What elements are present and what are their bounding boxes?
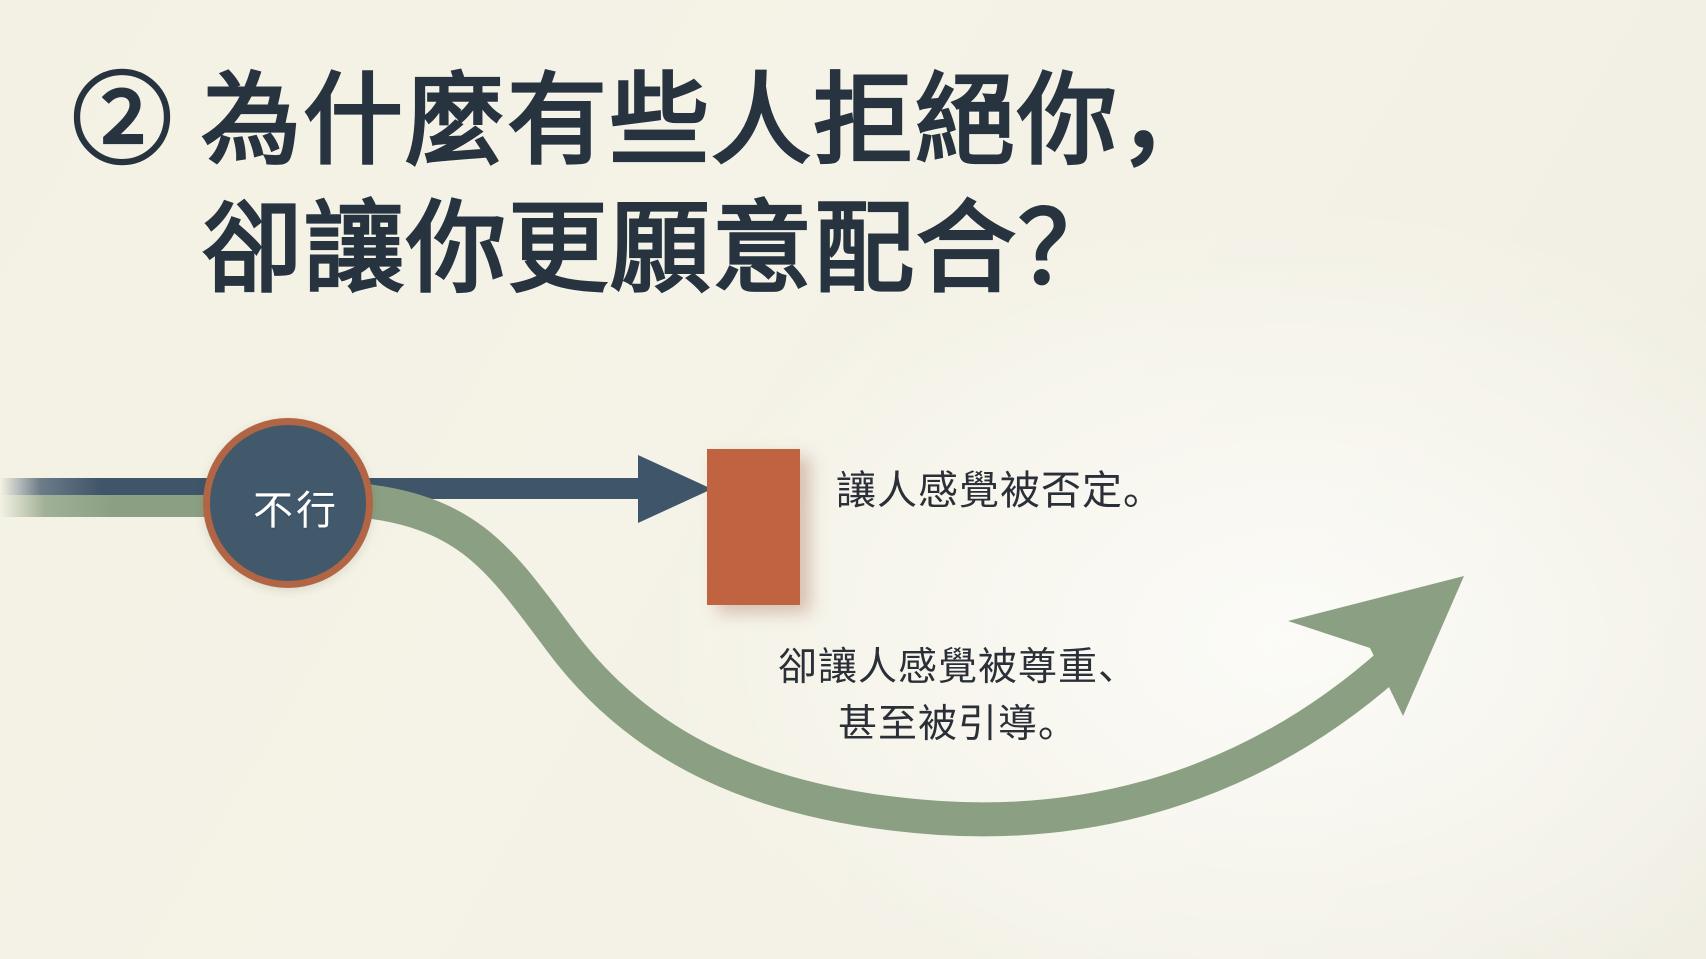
note-redirect: 卻讓人感覺被尊重、 甚至被引導。 [718,640,1198,753]
slide-canvas: ② 為什麼有些人拒絕你， 卻讓你更願意配合？ [0,0,1706,959]
note-rejection: 讓人感覺被否定。 [836,466,1164,516]
node-circle-rejection[interactable]: 不行 [203,418,373,588]
note-redirect-line-1: 卻讓人感覺被尊重、 [718,640,1198,697]
blocked-state-rect [707,449,800,605]
node-circle-label: 不行 [253,491,339,531]
inflow-track-green [0,495,225,517]
note-redirect-line-2: 甚至被引導。 [718,697,1198,754]
inflow-track-slate [0,478,225,495]
